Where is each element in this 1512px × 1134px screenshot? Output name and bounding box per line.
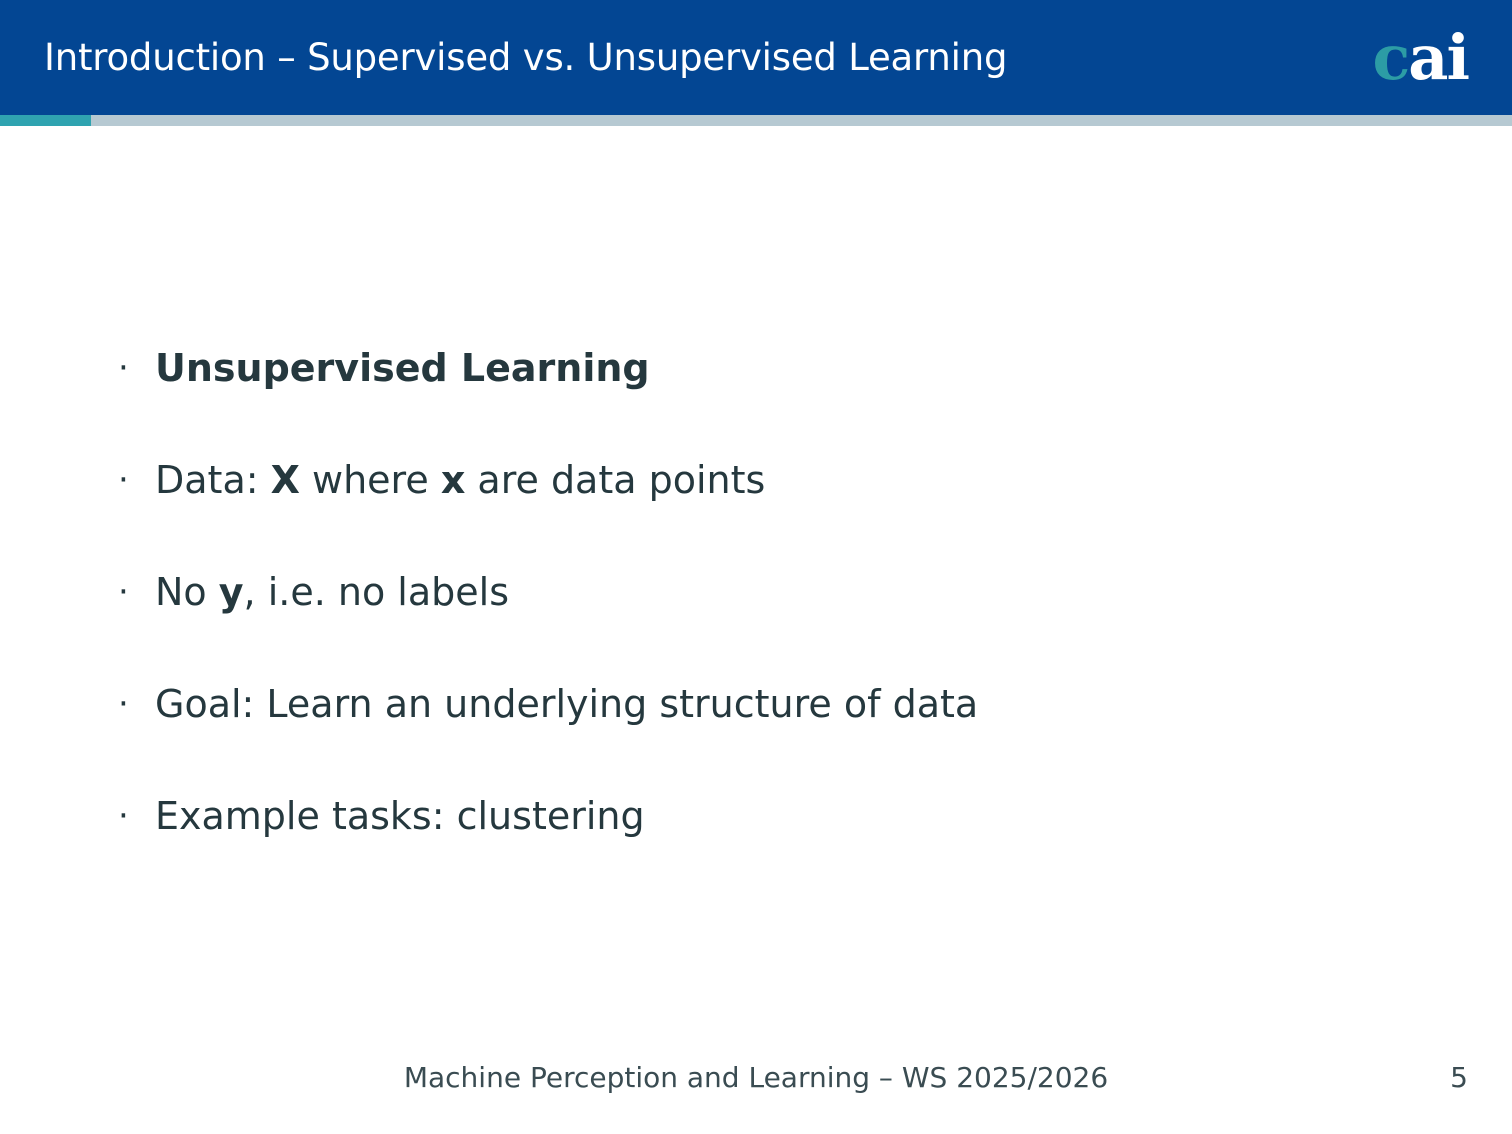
bullet-text-segment-1: Unsupervised Learning xyxy=(155,346,650,390)
slide-content: ·Unsupervised Learning·Data: X where x a… xyxy=(0,126,1512,1034)
bullet-marker-icon: · xyxy=(112,346,155,390)
bullet-item-1: ·Unsupervised Learning xyxy=(112,346,1412,458)
accent-stripe-teal xyxy=(0,115,91,126)
bullet-item-label: Unsupervised Learning xyxy=(155,346,650,390)
slide-root: Introduction – Supervised vs. Unsupervis… xyxy=(0,0,1512,1134)
bullet-item-label: Goal: Learn an underlying structure of d… xyxy=(155,682,978,726)
bullet-text-segment-3: where xyxy=(300,458,441,502)
bullet-list: ·Unsupervised Learning·Data: X where x a… xyxy=(112,346,1412,906)
bullet-text-segment-1: No xyxy=(155,570,219,614)
bullet-marker-icon: · xyxy=(112,682,155,726)
bullet-text-segment-5: are data points xyxy=(465,458,765,502)
header-accent-stripe xyxy=(0,115,1512,126)
bullet-text-segment-1: Data: xyxy=(155,458,271,502)
bullet-item-label: Data: X where x are data points xyxy=(155,458,765,502)
bullet-item-5: ·Example tasks: clustering xyxy=(112,794,1412,906)
bullet-text-segment-1: Goal: Learn an underlying structure of d… xyxy=(155,682,978,726)
cai-logo-ai-letters: ai xyxy=(1408,21,1468,94)
slide-footer: Machine Perception and Learning – WS 202… xyxy=(0,1058,1512,1108)
bullet-item-3: ·No y, i.e. no labels xyxy=(112,570,1412,682)
bullet-text-segment-3: , i.e. no labels xyxy=(244,570,509,614)
cai-logo: cai xyxy=(1373,0,1469,115)
bullet-marker-icon: · xyxy=(112,570,155,614)
math-variable-X: X xyxy=(271,458,300,502)
bullet-item-label: Example tasks: clustering xyxy=(155,794,645,838)
bullet-marker-icon: · xyxy=(112,794,155,838)
cai-logo-c-letter: c xyxy=(1373,21,1409,94)
bullet-marker-icon: · xyxy=(112,458,155,502)
math-variable-x: x xyxy=(441,458,466,502)
bullet-item-label: No y, i.e. no labels xyxy=(155,570,509,614)
footer-page-number: 5 xyxy=(1408,1058,1468,1098)
bullet-text-segment-1: Example tasks: clustering xyxy=(155,794,645,838)
bullet-item-2: ·Data: X where x are data points xyxy=(112,458,1412,570)
footer-course-label: Machine Perception and Learning – WS 202… xyxy=(0,1058,1512,1098)
math-variable-y: y xyxy=(219,570,244,614)
page-title: Introduction – Supervised vs. Unsupervis… xyxy=(44,0,1007,115)
bullet-item-4: ·Goal: Learn an underlying structure of … xyxy=(112,682,1412,794)
accent-stripe-grey xyxy=(91,115,1512,126)
